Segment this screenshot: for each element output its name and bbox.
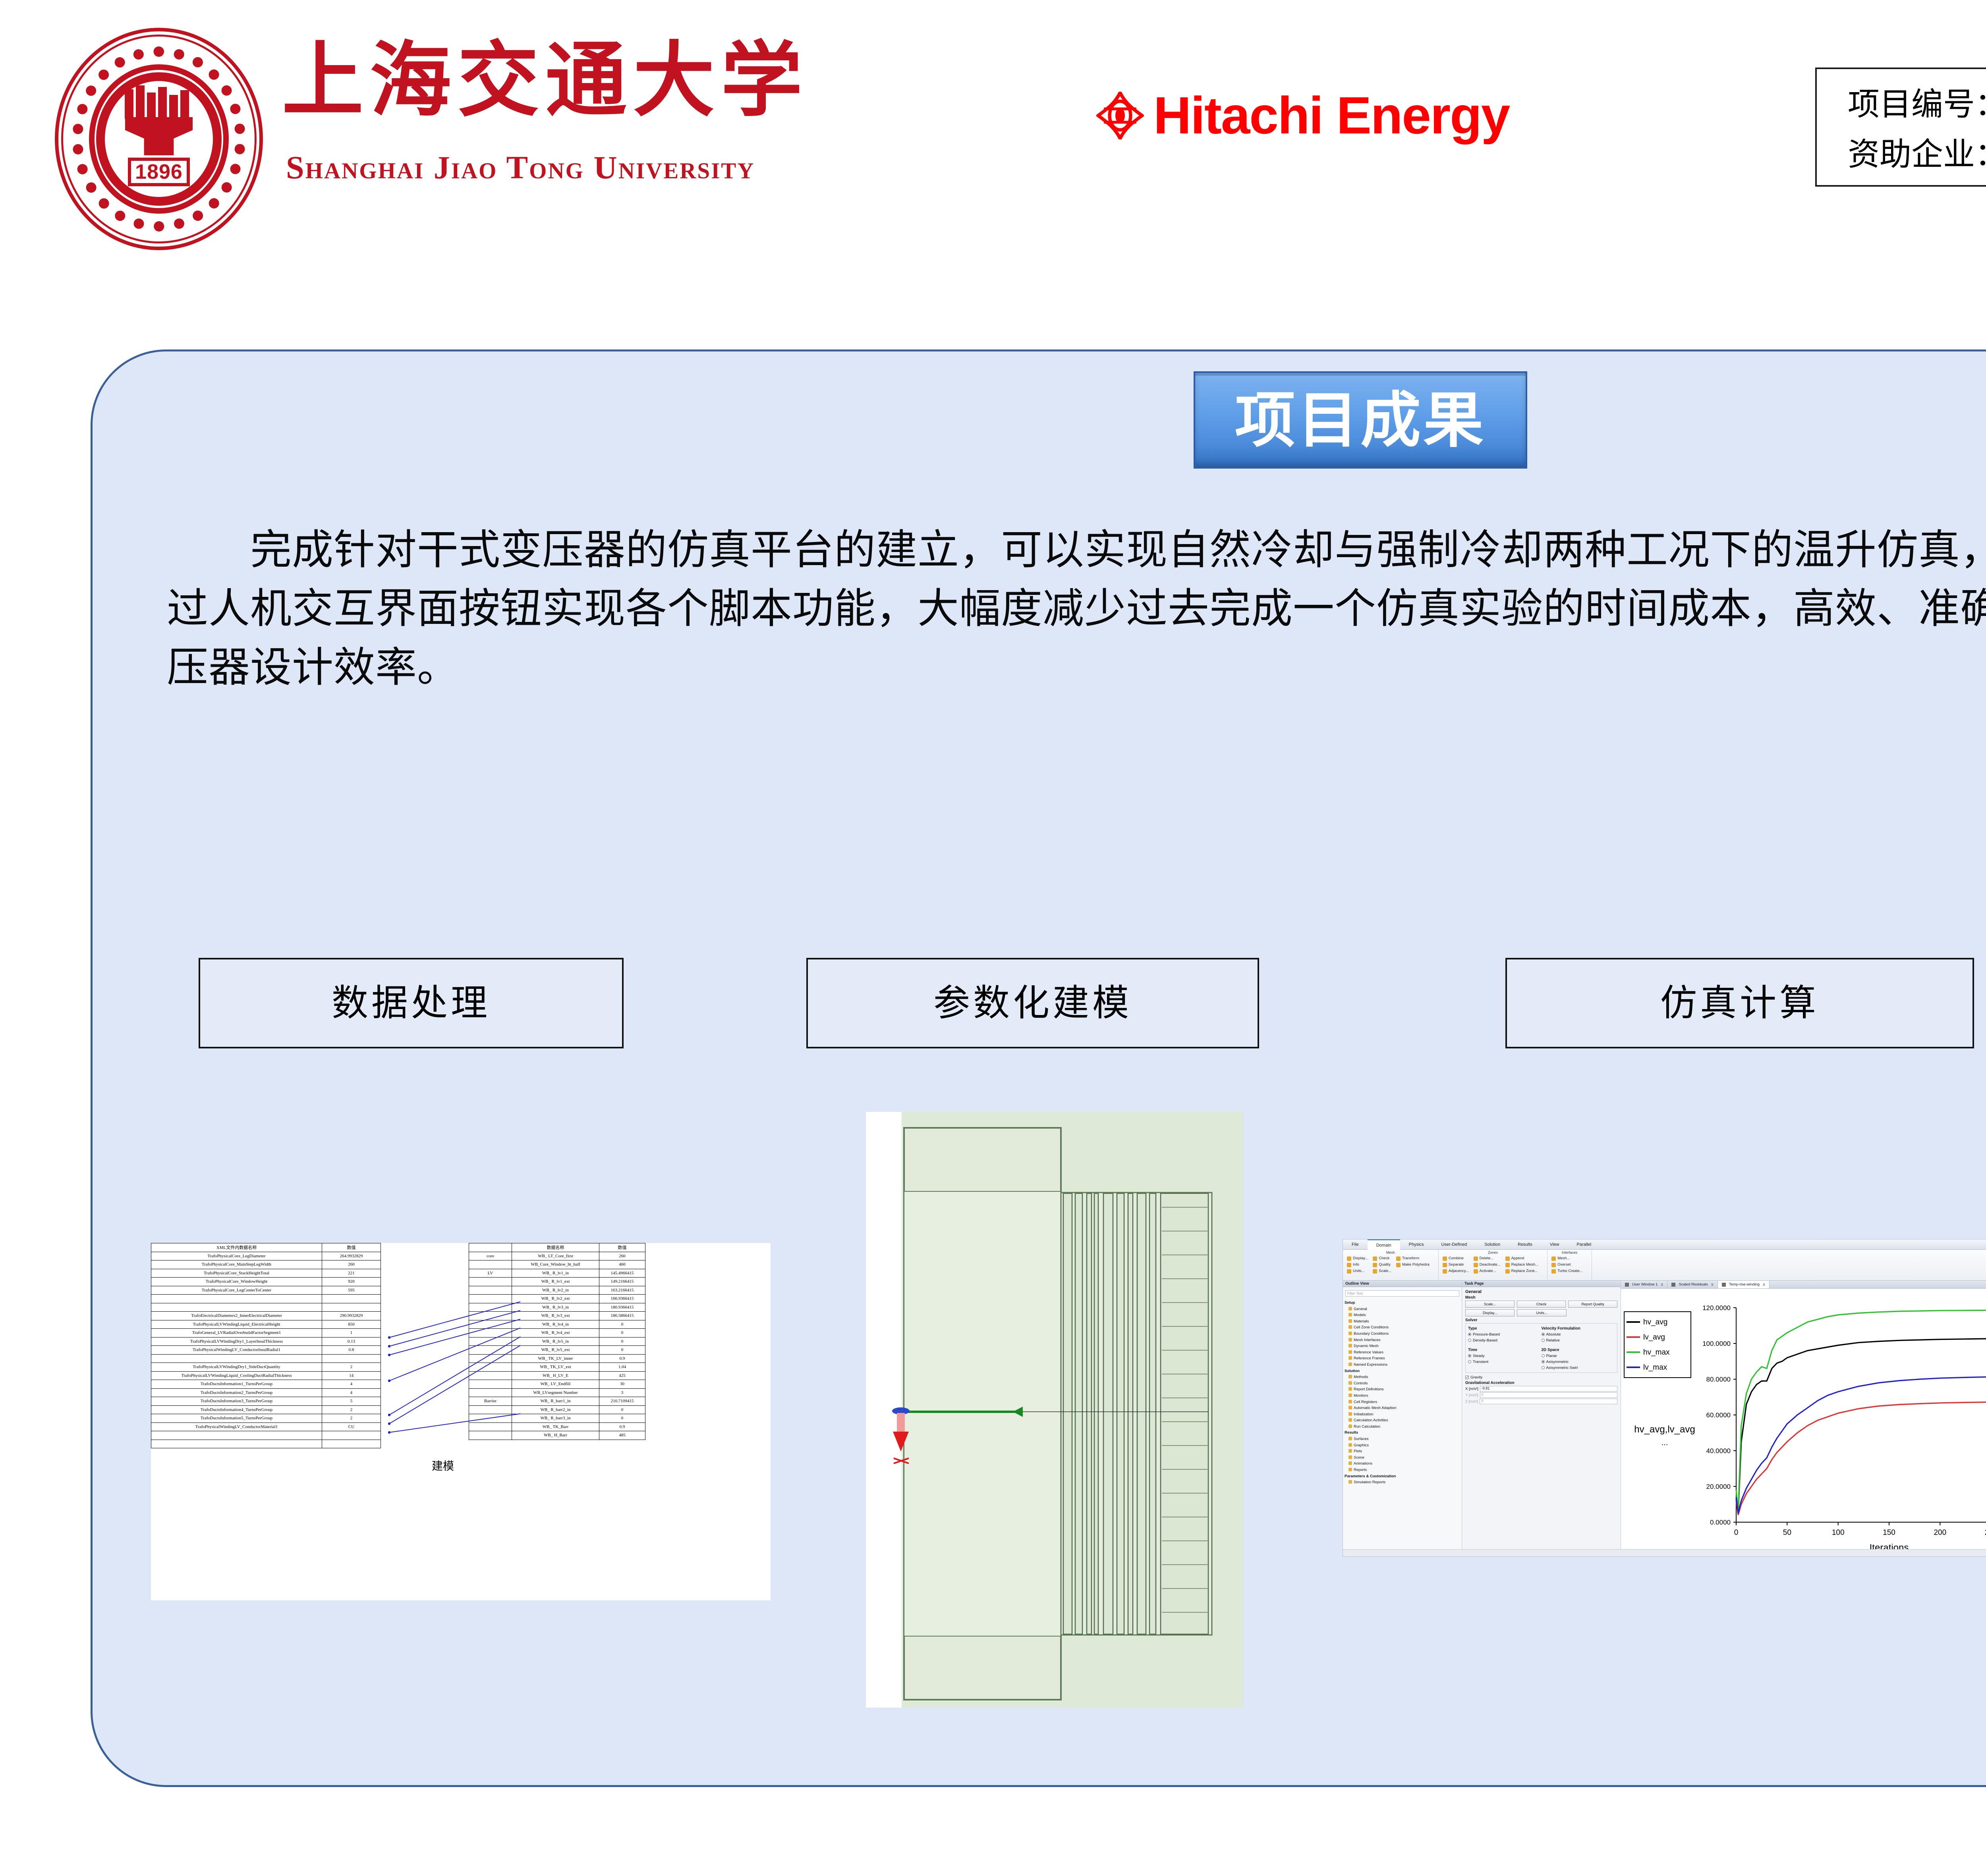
mesh-button-row-2: Display... Units... xyxy=(1465,1309,1617,1316)
table-row: TrafoElectricalDiameters2_InnerElectrica… xyxy=(151,1312,381,1320)
ribbon-item-label: Replace Zone... xyxy=(1511,1268,1538,1274)
menu-results[interactable]: Results xyxy=(1509,1242,1541,1247)
ribbon-item-replace-zone[interactable]: Replace Zone... xyxy=(1505,1268,1539,1274)
table-cell xyxy=(469,1346,512,1355)
tree-node-icon xyxy=(1348,1344,1352,1347)
table-row: TrafoGeneral_LVRadialOverbuildFactorSegm… xyxy=(151,1329,381,1338)
table-cell xyxy=(469,1286,512,1295)
ribbon-item-units[interactable]: Units... xyxy=(1347,1268,1368,1274)
tree-node-icon xyxy=(1348,1319,1352,1323)
fluent-task-panel[interactable]: Task Page General Mesh Scale... Check Re… xyxy=(1462,1281,1621,1557)
tree-item-methods[interactable]: Methods xyxy=(1343,1374,1462,1380)
ribbon-item-deactivate[interactable]: Deactivate... xyxy=(1474,1262,1501,1268)
tree-node-icon xyxy=(1348,1480,1352,1484)
data-processing-screenshot: XML文件内数据名称数值TrafoPhysicalCore_LegDiamete… xyxy=(151,1243,771,1600)
table-cell: 0.9 xyxy=(599,1354,645,1363)
table-cell: 2 xyxy=(322,1414,381,1423)
x-tick-label: 100 xyxy=(1832,1529,1845,1537)
table-cell xyxy=(469,1371,512,1380)
close-icon[interactable]: X xyxy=(1763,1281,1765,1289)
tree-item-simulation-reports[interactable]: Simulation Reports xyxy=(1343,1479,1462,1486)
tree-item-reports[interactable]: Reports xyxy=(1343,1467,1462,1473)
tree-item-reference-frames[interactable]: Reference Frames xyxy=(1343,1355,1462,1362)
tree-item-solution[interactable]: Solution xyxy=(1343,1368,1462,1374)
x-tick-label: 150 xyxy=(1883,1529,1895,1537)
mesh-group-label: Mesh xyxy=(1465,1295,1621,1300)
ribbon-item-mesh[interactable]: Mesh... xyxy=(1551,1255,1583,1262)
table-cell: TrafoElectricalDiameters2_InnerElectrica… xyxy=(151,1312,322,1320)
grav-x-input[interactable]: -9.81 xyxy=(1480,1386,1617,1392)
ribbon-item-separate[interactable]: Separate xyxy=(1443,1262,1469,1268)
table-cell xyxy=(469,1278,512,1286)
table-row: WB_LVsegment Number3 xyxy=(469,1388,645,1397)
ribbon-item-quality[interactable]: Quality xyxy=(1373,1262,1391,1268)
modeling-annotation: 建模 xyxy=(431,1459,455,1473)
ribbon-item-make-polyhedra[interactable]: Make Polyhedra xyxy=(1396,1262,1430,1268)
tree-item-label: Materials xyxy=(1354,1319,1369,1324)
tree-item-label: Models xyxy=(1354,1313,1366,1317)
tree-node-icon xyxy=(1348,1424,1352,1428)
table-row: TrafoPhysicalWindingLV_ConductorInsulRad… xyxy=(151,1346,381,1355)
report-quality-button[interactable]: Report Quality xyxy=(1568,1301,1617,1308)
table-row: WB_ TK_Barr0.9 xyxy=(469,1422,645,1431)
menu-user-defined[interactable]: User-Defined xyxy=(1433,1242,1476,1247)
table-cell: 460 xyxy=(599,1260,645,1269)
table-cell: CU xyxy=(322,1422,381,1431)
table-row: TrafoPhysicalLVWindingLiquid_ElectricalH… xyxy=(151,1320,381,1329)
tree-item-label: Calculation Activities xyxy=(1354,1418,1388,1422)
table-cell: 4 xyxy=(322,1380,381,1389)
page-header: 1896 上海交通大学 Shanghai Jiao Tong Universit… xyxy=(0,0,1986,262)
tree-item-results[interactable]: Results xyxy=(1343,1430,1462,1436)
page-title-badge: 项目成果 xyxy=(1194,371,1527,469)
university-name-en: Shanghai Jiao Tong University xyxy=(286,149,755,186)
table-cell: WB_ TK_LV_inner xyxy=(512,1354,599,1363)
column-header: XML文件内数据名称 xyxy=(151,1243,322,1252)
y-axis-label: hv_avg,lv_avg xyxy=(1634,1424,1695,1435)
tree-item-label: Automatic Mesh Adaption xyxy=(1354,1406,1397,1410)
units-button[interactable]: Units... xyxy=(1517,1309,1566,1316)
table-row: WB_ R_lv5_in0 xyxy=(469,1337,645,1346)
table-row xyxy=(151,1354,381,1363)
cad-geometry-view xyxy=(866,1112,1243,1708)
section-label-text: 仿真计算 xyxy=(1660,985,1819,1021)
tree-item-scene[interactable]: Scene xyxy=(1343,1455,1462,1461)
tree-item-label: Controls xyxy=(1354,1381,1368,1386)
project-info-box: 项目编号：2023045 资助企业：日立能源（中国）有限公司 xyxy=(1815,68,1986,187)
tree-item-cell-zone-conditions[interactable]: Cell Zone Conditions xyxy=(1343,1324,1462,1331)
table-cell: 425 xyxy=(599,1371,645,1380)
fluent-menubar[interactable]: FileDomainPhysicsUser-DefinedSolutionRes… xyxy=(1343,1239,1986,1250)
menu-file[interactable]: File xyxy=(1343,1242,1368,1247)
table-cell: WB_ R_lv4_in xyxy=(512,1320,599,1329)
ribbon-item-icon xyxy=(1474,1263,1478,1267)
radio-steady[interactable]: Steady xyxy=(1468,1353,1542,1359)
table-cell: 850 xyxy=(322,1320,381,1329)
tree-item-calculation-activities[interactable]: Calculation Activities xyxy=(1343,1417,1462,1424)
table-cell: 290.9932829 xyxy=(322,1312,381,1320)
tree-item-reference-values[interactable]: Reference Values xyxy=(1343,1349,1462,1356)
table-cell xyxy=(151,1431,322,1440)
summary-paragraph: 完成针对干式变压器的仿真平台的建立，可以实现自然冷却与强制冷却两种工况下的温升仿… xyxy=(167,520,1986,697)
table-cell xyxy=(322,1431,381,1440)
table-cell: 0.8 xyxy=(322,1346,381,1355)
table-cell: 14 xyxy=(322,1371,381,1380)
graphics-tab-scaled-residuals[interactable]: Scaled ResidualsX xyxy=(1667,1281,1717,1288)
ribbon-item-info[interactable]: Info xyxy=(1347,1262,1368,1268)
ribbon-item-icon xyxy=(1373,1263,1377,1267)
table-cell: 0 xyxy=(599,1346,645,1355)
table-cell: TrafoPhysicalLVWindingDry1_LayerInsulThi… xyxy=(151,1337,322,1346)
table-cell: TrafoPhysicalCore_LegDiameter xyxy=(151,1252,322,1260)
table-cell: 0 xyxy=(599,1337,645,1346)
table-row: WB_ R_lv5_ext0 xyxy=(469,1346,645,1355)
table-row: WB_ LV_Endfill30 xyxy=(469,1380,645,1389)
hitachi-energy-wordmark: Hitachi Energy xyxy=(1153,89,1509,142)
ribbon-group-title: Interfaces xyxy=(1551,1251,1588,1255)
tree-item-label: Boundary Conditions xyxy=(1354,1332,1389,1336)
radio-density-based[interactable]: Density-Based xyxy=(1468,1338,1542,1343)
tree-node-icon xyxy=(1348,1455,1352,1459)
ribbon-item-label: Deactivate... xyxy=(1480,1262,1501,1268)
velocity-formulation-label: Velocity Formulation xyxy=(1542,1326,1615,1331)
ribbon-item-combine[interactable]: Combine xyxy=(1443,1255,1469,1262)
table-cell: 180.9366415 xyxy=(599,1303,645,1312)
ribbon-item-label: Check xyxy=(1379,1255,1389,1262)
ribbon-item-icon xyxy=(1505,1269,1510,1274)
table-cell: 3 xyxy=(599,1388,645,1397)
ribbon-group-title: Zones xyxy=(1443,1251,1544,1255)
tree-item-label: Scene xyxy=(1354,1455,1364,1460)
table-cell: WB_ R_lv3_ext xyxy=(512,1312,599,1320)
tree-node-icon xyxy=(1348,1381,1352,1385)
ribbon-item-icon xyxy=(1443,1269,1447,1274)
ribbon-item-icon xyxy=(1551,1269,1556,1274)
menu-parallel[interactable]: Parallel xyxy=(1568,1242,1600,1247)
table-row: WB_ R_lv2_ext166.9366415 xyxy=(469,1295,645,1303)
table-cell: 2 xyxy=(322,1363,381,1372)
tree-item-label: Report Definitions xyxy=(1354,1387,1384,1392)
tree-item-label: Parameters & Customization xyxy=(1345,1474,1396,1478)
table-cell: 0.13 xyxy=(322,1337,381,1346)
legend-label-lv_avg: lv_avg xyxy=(1643,1333,1665,1341)
radio-absolute[interactable]: Absolute xyxy=(1542,1332,1615,1338)
gravity-checkbox[interactable]: ✓ Gravity xyxy=(1465,1375,1617,1380)
table-cell: 0 xyxy=(599,1329,645,1338)
tree-item-label: Reference Frames xyxy=(1354,1356,1385,1361)
table-row: WB_ R_lv3_ext186.5866415 xyxy=(469,1312,645,1320)
ribbon-item-icon xyxy=(1347,1256,1351,1261)
tree-item-plots[interactable]: Plots xyxy=(1343,1448,1462,1455)
section-label-simulation-computation: 仿真计算 xyxy=(1505,958,1974,1048)
table-row: TrafoDuctsInformation3_TurnsPerGroup5 xyxy=(151,1397,381,1406)
ribbon-item-icon xyxy=(1443,1256,1447,1261)
grav-y-input[interactable]: 0 xyxy=(1480,1392,1617,1398)
legend-label-hv_max: hv_max xyxy=(1643,1348,1670,1357)
x-tick-label: 200 xyxy=(1934,1529,1946,1537)
table-cell: TrafoPhysicalWindingLV_ConductorInsulRad… xyxy=(151,1346,322,1355)
task-panel-title: Task Page xyxy=(1462,1281,1621,1287)
table-row: TrafoDuctsInformation5_TurnsPerGroup2 xyxy=(151,1414,381,1423)
ribbon-item-label: Turbo Create... xyxy=(1557,1268,1583,1274)
graphics-tab-user-window-1[interactable]: User Window 1X xyxy=(1621,1281,1667,1288)
radio-axisymmetric-swirl[interactable]: Axisymmetric Swirl xyxy=(1542,1365,1615,1371)
table-cell: 0 xyxy=(599,1405,645,1414)
check-button[interactable]: Check xyxy=(1517,1301,1566,1308)
table-cell: 0 xyxy=(599,1414,645,1423)
task-section-title: General xyxy=(1465,1289,1621,1294)
tree-item-initialization[interactable]: Initialization xyxy=(1343,1411,1462,1418)
tree-node-icon xyxy=(1348,1387,1352,1391)
table-cell: WB_ R_lv2_ext xyxy=(512,1295,599,1303)
scale-button[interactable]: Scale... xyxy=(1465,1301,1515,1308)
tree-item-parameters-customization[interactable]: Parameters & Customization xyxy=(1343,1473,1462,1480)
tree-node-icon xyxy=(1348,1332,1352,1335)
tree-item-mesh-interfaces[interactable]: Mesh Interfaces xyxy=(1343,1337,1462,1343)
tab-label: Scaled Residuals xyxy=(1679,1281,1708,1289)
table-cell xyxy=(322,1440,381,1448)
table-cell xyxy=(469,1329,512,1338)
grav-y-label: Y [m/s²] xyxy=(1465,1393,1478,1397)
tree-item-named-expressions[interactable]: Named Expressions xyxy=(1343,1362,1462,1368)
radio-planar[interactable]: Planar xyxy=(1542,1353,1615,1359)
outline-panel-title: Outline View xyxy=(1343,1281,1462,1287)
menu-physics[interactable]: Physics xyxy=(1400,1242,1433,1247)
ribbon-item-label: Adjacency... xyxy=(1449,1268,1469,1274)
ribbon-item-label: Display... xyxy=(1353,1255,1368,1262)
ribbon-item-icon xyxy=(1373,1256,1377,1261)
tree-node-icon xyxy=(1348,1356,1352,1360)
menu-solution[interactable]: Solution xyxy=(1476,1242,1509,1247)
tree-item-report-definitions[interactable]: Report Definitions xyxy=(1343,1386,1462,1393)
simulation-screenshot: FileDomainPhysicsUser-DefinedSolutionRes… xyxy=(1343,1239,1986,1557)
tree-node-icon xyxy=(1348,1400,1352,1403)
table-cell xyxy=(469,1320,512,1329)
section-label-text: 参数化建模 xyxy=(933,985,1132,1021)
tree-node-icon xyxy=(1348,1375,1352,1378)
tree-item-automatic-mesh-adaption[interactable]: Automatic Mesh Adaption xyxy=(1343,1405,1462,1411)
tree-node-icon xyxy=(1348,1363,1352,1366)
table-cell: TrafoPhysicalCore_MainStepLegWidth xyxy=(151,1260,322,1269)
tree-item-surfaces[interactable]: Surfaces xyxy=(1343,1436,1462,1442)
menu-view[interactable]: View xyxy=(1541,1242,1568,1247)
table-cell: 30 xyxy=(599,1380,645,1389)
ribbon-item-scale[interactable]: Scale... xyxy=(1373,1268,1391,1274)
tree-item-setup[interactable]: Setup xyxy=(1343,1300,1462,1306)
tree-item-models[interactable]: Models xyxy=(1343,1312,1462,1318)
ribbon-item-icon xyxy=(1505,1256,1510,1261)
filter-input[interactable]: Filter Text xyxy=(1345,1290,1459,1297)
column-header xyxy=(469,1243,512,1252)
table-cell: 260 xyxy=(599,1252,645,1260)
y-tick-label: 0.0000 xyxy=(1710,1519,1731,1526)
tree-node-icon xyxy=(1348,1468,1352,1471)
parametric-model-screenshot xyxy=(866,1112,1243,1708)
graphics-tab-temp-rise-winding[interactable]: Temp-rise-windingX xyxy=(1718,1281,1770,1288)
ribbon-item-label: Append xyxy=(1511,1255,1524,1262)
solver-group-label: Solver xyxy=(1465,1318,1621,1322)
table-cell xyxy=(469,1312,512,1320)
ribbon-item-icon xyxy=(1347,1269,1351,1274)
table-cell: LV xyxy=(469,1269,512,1278)
table-cell: 1.04 xyxy=(599,1363,645,1372)
tree-item-run-calculation[interactable]: Run Calculation xyxy=(1343,1424,1462,1430)
fluent-ribbon[interactable]: MeshDisplay...InfoUnits...CheckQualitySc… xyxy=(1343,1250,1986,1281)
table-cell: WB_ R_barr1_in xyxy=(512,1397,599,1406)
fluent-outline-panel[interactable]: Outline View Filter Text SetupGeneralMod… xyxy=(1343,1281,1462,1557)
table-cell xyxy=(469,1295,512,1303)
tree-item-label: Reports xyxy=(1354,1468,1367,1472)
radio-pressure-based[interactable]: Pressure-Based xyxy=(1468,1332,1542,1338)
tree-node-icon xyxy=(1348,1443,1352,1447)
ribbon-item-delete[interactable]: Delete... xyxy=(1474,1255,1501,1262)
seal-year: 1896 xyxy=(128,158,190,186)
tree-item-label: Surfaces xyxy=(1354,1437,1369,1441)
table-cell: core xyxy=(469,1252,512,1260)
mesh-button-row-1: Scale... Check Report Quality xyxy=(1465,1301,1617,1308)
checkbox-mark: ✓ xyxy=(1465,1376,1469,1379)
ribbon-item-transform[interactable]: Transform xyxy=(1396,1255,1430,1262)
grav-z-input[interactable]: 0 xyxy=(1480,1399,1617,1404)
radio-transient[interactable]: Transient xyxy=(1468,1359,1542,1365)
table-cell: TrafoPhysicalCore_WindowHeight xyxy=(151,1278,322,1286)
table-cell: WB_ R_barr3_in xyxy=(512,1414,599,1423)
xml-parameter-table: XML文件内数据名称数值TrafoPhysicalCore_LegDiamete… xyxy=(151,1243,381,1448)
sjtu-seal-icon: 1896 xyxy=(48,28,270,250)
grav-accel-label: Gravitational Acceleration xyxy=(1465,1381,1621,1385)
tree-item-label: Run Calculation xyxy=(1354,1424,1380,1429)
table-cell: 221 xyxy=(322,1269,381,1278)
ribbon-item-display[interactable]: Display... xyxy=(1347,1255,1368,1262)
table-cell: 1 xyxy=(322,1329,381,1338)
table-cell: WB_Core_Window_ht_half xyxy=(512,1260,599,1269)
table-cell: WB_ TK_LV_ext xyxy=(512,1363,599,1372)
fluent-graphics-area: User Window 1XScaled ResidualsXTemp-rise… xyxy=(1621,1281,1986,1557)
tree-item-dynamic-mesh[interactable]: Dynamic Mesh xyxy=(1343,1343,1462,1349)
table-cell: 485 xyxy=(599,1431,645,1440)
table-row xyxy=(151,1431,381,1440)
hitachi-energy-logo: Hitachi Energy xyxy=(1096,89,1509,142)
grav-x-label: X [m/s²] xyxy=(1465,1387,1478,1391)
column-header: 数值 xyxy=(322,1243,381,1252)
close-icon[interactable]: X xyxy=(1661,1281,1663,1289)
table-row: TrafoPhysicalCore_LegCenterToCenter595 xyxy=(151,1286,381,1295)
table-cell: TrafoPhysicalLVWindingLiquid_CoolingDuct… xyxy=(151,1371,322,1380)
radio-axisymmetric[interactable]: Axisymmetric xyxy=(1542,1359,1615,1365)
y-tick-label: 80.0000 xyxy=(1706,1376,1731,1383)
table-cell: 0.9 xyxy=(599,1422,645,1431)
ribbon-item-label: Make Polyhedra xyxy=(1402,1262,1430,1268)
table-row: TrafoPhysicalCore_StackHeightTotal221 xyxy=(151,1269,381,1278)
table-cell: 595 xyxy=(322,1286,381,1295)
menu-domain[interactable]: Domain xyxy=(1368,1239,1400,1250)
workbench-parameter-table: 数据名称数值coreWB_ LT_Core_first260WB_Core_Wi… xyxy=(469,1243,645,1440)
y-tick-label: 20.0000 xyxy=(1706,1483,1731,1490)
radio-relative[interactable]: Relative xyxy=(1542,1338,1615,1343)
tree-item-label: Named Expressions xyxy=(1354,1363,1387,1367)
table-row: WB_ H_Barr485 xyxy=(469,1431,645,1440)
table-cell xyxy=(151,1440,322,1448)
table-row: TrafoDuctsInformation2_TurnsPerGroup4 xyxy=(151,1388,381,1397)
table-cell: TrafoDuctsInformation5_TurnsPerGroup xyxy=(151,1414,322,1423)
table-cell: WB_ LV_Endfill xyxy=(512,1380,599,1389)
table-cell: 163.2166415 xyxy=(599,1286,645,1295)
table-row: TrafoPhysicalLVWindingDry1_SideDuctQuant… xyxy=(151,1363,381,1372)
table-row: WB_Core_Window_ht_half460 xyxy=(469,1260,645,1269)
table-cell: 5 xyxy=(322,1397,381,1406)
table-header-row: 数据名称数值 xyxy=(469,1243,645,1252)
tree-node-icon xyxy=(1348,1412,1352,1416)
table-cell: 145.4966415 xyxy=(599,1269,645,1278)
tree-item-label: Monitors xyxy=(1354,1393,1368,1398)
tree-node-icon xyxy=(1348,1313,1352,1316)
ribbon-item-adjacency[interactable]: Adjacency... xyxy=(1443,1268,1469,1274)
table-cell xyxy=(469,1380,512,1389)
y-tick-label: 100.0000 xyxy=(1702,1340,1731,1347)
section-label-parametric-modeling: 参数化建模 xyxy=(806,958,1259,1048)
table-row: TrafoPhysicalLVWindingLiquid_CoolingDuct… xyxy=(151,1371,381,1380)
ribbon-item-label: Quality xyxy=(1379,1262,1391,1268)
ribbon-item-icon xyxy=(1474,1256,1478,1261)
ribbon-item-icon xyxy=(1396,1256,1401,1261)
ribbon-item-activate[interactable]: Activate... xyxy=(1474,1268,1501,1274)
ribbon-item-label: Separate xyxy=(1449,1262,1464,1268)
tree-item-cell-registers[interactable]: Cell Registers xyxy=(1343,1399,1462,1405)
tree-item-label: Initialization xyxy=(1354,1412,1374,1417)
outline-tree[interactable]: SetupGeneralModelsMaterialsCell Zone Con… xyxy=(1343,1300,1462,1486)
table-cell xyxy=(469,1303,512,1312)
ribbon-item-overset[interactable]: Overset xyxy=(1551,1262,1583,1268)
ribbon-item-icon xyxy=(1443,1263,1447,1267)
graphics-tabstrip[interactable]: User Window 1XScaled ResidualsXTemp-rise… xyxy=(1621,1281,1986,1289)
ribbon-item-append[interactable]: Append xyxy=(1505,1255,1539,1262)
table-row xyxy=(151,1440,381,1448)
table-row: WB_ R_barr2_in0 xyxy=(469,1405,645,1414)
table-cell: TrafoPhysicalLVWindingLiquid_ElectricalH… xyxy=(151,1320,322,1329)
tree-item-boundary-conditions[interactable]: Boundary Conditions xyxy=(1343,1331,1462,1337)
tree-item-general[interactable]: General xyxy=(1343,1306,1462,1312)
tree-item-monitors[interactable]: Monitors xyxy=(1343,1393,1462,1399)
tab-thumbnail-icon xyxy=(1722,1283,1726,1287)
close-icon[interactable]: X xyxy=(1711,1281,1714,1289)
tree-item-controls[interactable]: Controls xyxy=(1343,1380,1462,1387)
table-cell: 2 xyxy=(322,1405,381,1414)
table-row: LVWB_ R_lv1_in145.4966415 xyxy=(469,1269,645,1278)
ribbon-item-label: Replace Mesh... xyxy=(1511,1262,1539,1268)
tree-node-icon xyxy=(1348,1350,1352,1354)
tree-node-icon xyxy=(1348,1307,1352,1310)
table-row: WB_ R_lv3_in180.9366415 xyxy=(469,1303,645,1312)
tree-item-graphics[interactable]: Graphics xyxy=(1343,1442,1462,1449)
table-cell xyxy=(469,1405,512,1414)
y-tick-label: 60.0000 xyxy=(1706,1411,1731,1419)
ribbon-item-turbo-create[interactable]: Turbo Create... xyxy=(1551,1268,1583,1274)
table-cell: 149.2166415 xyxy=(599,1278,645,1286)
time-label: Time xyxy=(1468,1348,1542,1352)
ribbon-item-check[interactable]: Check xyxy=(1373,1255,1391,1262)
table-cell: WB_ R_barr2_in xyxy=(512,1405,599,1414)
tree-item-materials[interactable]: Materials xyxy=(1343,1318,1462,1325)
table-row: WB_ R_lv1_ext149.2166415 xyxy=(469,1278,645,1286)
ribbon-item-replace-mesh[interactable]: Replace Mesh... xyxy=(1505,1262,1539,1268)
display-button[interactable]: Display... xyxy=(1465,1309,1515,1316)
table-cell: WB_ R_lv2_in xyxy=(512,1286,599,1295)
column-header: 数据名称 xyxy=(512,1243,599,1252)
ribbon-item-icon xyxy=(1347,1263,1351,1267)
table-cell: 0 xyxy=(599,1320,645,1329)
ribbon-item-label: Mesh... xyxy=(1557,1255,1570,1262)
tree-item-animations[interactable]: Animations xyxy=(1343,1461,1462,1467)
